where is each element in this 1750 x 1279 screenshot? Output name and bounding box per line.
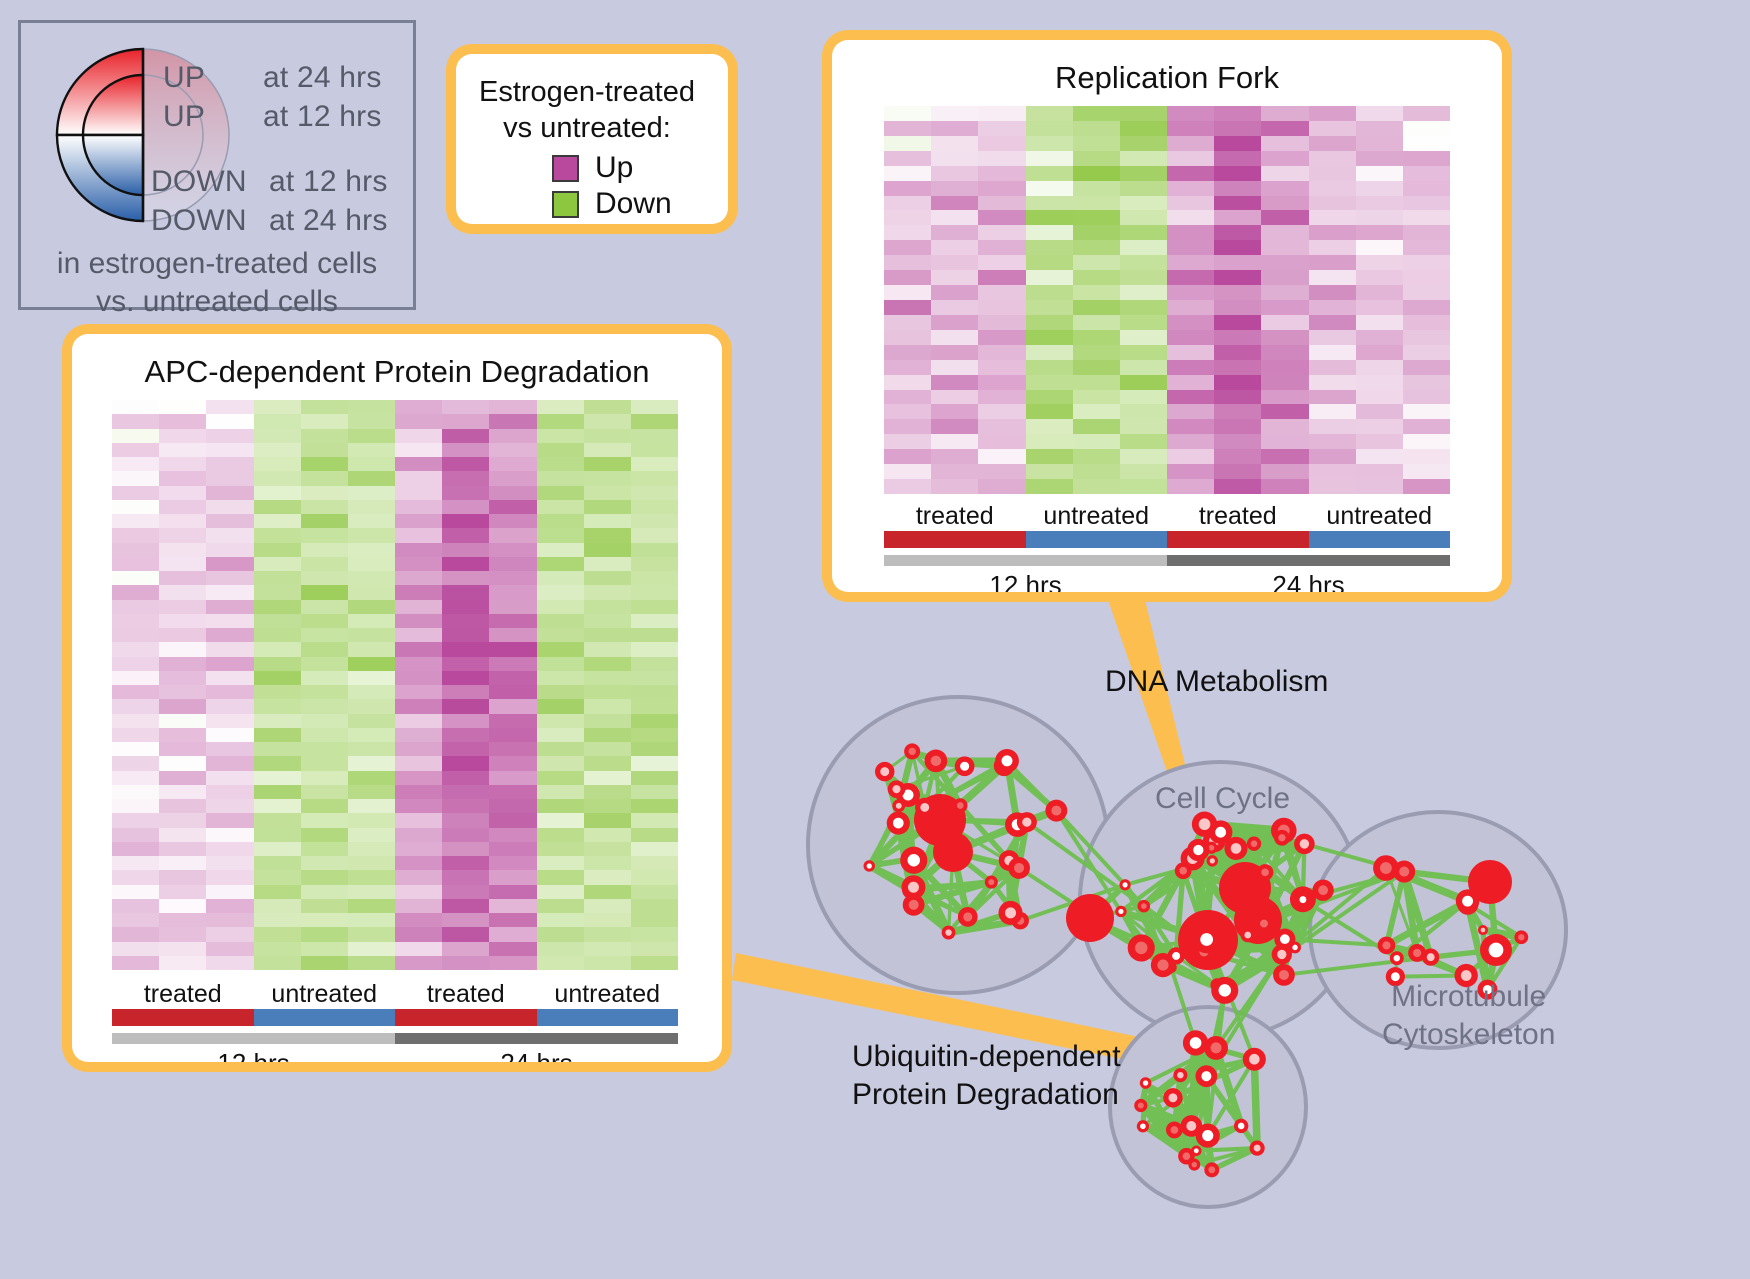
network-node[interactable] <box>892 799 905 812</box>
heatmap-cell <box>254 899 301 913</box>
network-node[interactable] <box>1045 800 1067 822</box>
heatmap-cell <box>442 728 489 742</box>
heatmap-cell <box>1261 210 1308 225</box>
heatmap-cell <box>1356 449 1403 464</box>
heatmap-cell <box>112 842 159 856</box>
heatmap-cell <box>348 699 395 713</box>
heatmap-cell <box>584 657 631 671</box>
network-node[interactable] <box>1234 1119 1248 1133</box>
heatmap-cell <box>931 449 978 464</box>
network-node[interactable] <box>1243 1048 1266 1071</box>
treatment-bar-rf <box>884 531 1450 548</box>
node-inner <box>1122 882 1127 887</box>
pathway-network <box>790 620 1590 1220</box>
heatmap-cell <box>206 400 253 414</box>
heatmap-cell <box>206 842 253 856</box>
heatmap-cell <box>931 225 978 240</box>
heatmap-cell <box>1167 225 1214 240</box>
node-inner <box>893 818 904 829</box>
node-inner <box>1183 1152 1191 1160</box>
heatmap-cell <box>301 457 348 471</box>
heatmap-cell <box>537 628 584 642</box>
network-node[interactable] <box>1134 1099 1147 1112</box>
heatmap-cell <box>1167 166 1214 181</box>
heatmap-replication-fork <box>884 106 1450 494</box>
network-node[interactable] <box>1294 834 1315 855</box>
node-inner <box>960 762 969 771</box>
network-node[interactable] <box>1175 862 1192 879</box>
network-node[interactable] <box>1066 894 1114 942</box>
node-inner <box>1135 942 1147 954</box>
network-node[interactable] <box>864 860 875 871</box>
heatmap-cell <box>395 885 442 899</box>
heatmap-cell <box>489 828 536 842</box>
node-inner <box>1143 1080 1148 1085</box>
heatmap-cell <box>348 771 395 785</box>
heatmap-cell <box>442 856 489 870</box>
heatmap-cell <box>1261 151 1308 166</box>
heatmap-cell <box>395 728 442 742</box>
heatmap-cell <box>1309 285 1356 300</box>
heatmap-cell <box>1309 375 1356 390</box>
heatmap-cell <box>159 414 206 428</box>
heatmap-cell <box>159 856 206 870</box>
heatmap-cell <box>1120 181 1167 196</box>
heatmap-cell <box>159 657 206 671</box>
heatmap-cell <box>206 414 253 428</box>
network-node[interactable] <box>1173 1068 1187 1082</box>
heatmap-cell <box>1214 121 1261 136</box>
heatmap-cell <box>348 813 395 827</box>
heatmap-cell <box>348 785 395 799</box>
heatmap-cell <box>584 471 631 485</box>
heatmap-cell <box>442 885 489 899</box>
heatmap-cell <box>1261 285 1308 300</box>
network-node[interactable] <box>955 756 975 776</box>
heatmap-cell <box>348 414 395 428</box>
heatmap-cell <box>537 885 584 899</box>
network-node[interactable] <box>1138 900 1151 913</box>
heatmap-cell <box>1120 434 1167 449</box>
heatmap-cell <box>1120 390 1167 405</box>
heatmap-cell <box>489 543 536 557</box>
heatmap-cell <box>301 429 348 443</box>
timepoint-label: 24 hrs <box>395 1048 678 1062</box>
heatmap-cell <box>206 628 253 642</box>
node-inner <box>1280 934 1290 944</box>
heatmap-cell <box>1167 240 1214 255</box>
network-node[interactable] <box>1295 892 1310 907</box>
network-node[interactable] <box>933 832 973 872</box>
heatmap-cell <box>489 429 536 443</box>
timepoint-label: 12 hrs <box>112 1048 395 1062</box>
heatmap-cell <box>254 400 301 414</box>
heatmap-cell <box>631 557 678 571</box>
key-time-down-24: at 24 hrs <box>269 204 388 238</box>
heatmap-cell <box>254 571 301 585</box>
heatmap-cell <box>348 927 395 941</box>
heatmap-cell <box>159 486 206 500</box>
network-node[interactable] <box>953 798 968 813</box>
network-node[interactable] <box>1247 836 1261 850</box>
heatmap-cell <box>442 585 489 599</box>
heatmap-cell <box>978 151 1025 166</box>
key-time-up-24: at 24 hrs <box>263 61 382 95</box>
heatmap-cell <box>395 913 442 927</box>
network-node[interactable] <box>915 798 934 817</box>
heatmap-cell <box>159 514 206 528</box>
heatmap-cell <box>537 856 584 870</box>
heatmap-cell <box>1261 345 1308 360</box>
heatmap-cell <box>112 714 159 728</box>
node-inner <box>1254 1145 1261 1152</box>
heatmap-cell <box>884 285 931 300</box>
network-node[interactable] <box>1187 839 1209 861</box>
heatmap-cell <box>1120 121 1167 136</box>
heatmap-cell <box>489 500 536 514</box>
heatmap-cell <box>1309 151 1356 166</box>
heatmap-cell <box>1167 345 1214 360</box>
heatmap-cell <box>1120 464 1167 479</box>
heatmap-cell <box>1403 434 1450 449</box>
network-node[interactable] <box>900 847 927 874</box>
heatmap-cell <box>884 240 931 255</box>
heatmap-cell <box>1309 255 1356 270</box>
network-node[interactable] <box>904 743 920 759</box>
heatmap-cell <box>112 486 159 500</box>
node-inner <box>1399 866 1409 876</box>
heatmap-cell <box>537 471 584 485</box>
heatmap-cell <box>631 799 678 813</box>
heatmap-cell <box>1120 404 1167 419</box>
heatmap-cell <box>1261 375 1308 390</box>
heatmap-cell <box>978 345 1025 360</box>
heatmap-cell <box>254 756 301 770</box>
heatmap-cell <box>1214 225 1261 240</box>
heatmap-cell <box>395 856 442 870</box>
network-node[interactable] <box>1378 937 1396 955</box>
heatmap-cell <box>1073 375 1120 390</box>
heatmap-cell <box>1073 106 1120 121</box>
heatmap-cell <box>1120 270 1167 285</box>
heatmap-cell <box>206 828 253 842</box>
network-node[interactable] <box>1188 1159 1200 1171</box>
heatmap-cell <box>584 842 631 856</box>
heatmap-cell <box>112 785 159 799</box>
heatmap-cell <box>978 255 1025 270</box>
heatmap-cell <box>1356 300 1403 315</box>
heatmap-cell <box>395 628 442 642</box>
heatmap-cell <box>884 255 931 270</box>
network-node[interactable] <box>1250 1141 1265 1156</box>
heatmap-cell <box>931 181 978 196</box>
heatmap-cell <box>631 756 678 770</box>
heatmap-cell <box>1214 330 1261 345</box>
network-node[interactable] <box>985 876 998 889</box>
heatmap-cell <box>1356 390 1403 405</box>
node-inner <box>1299 896 1306 903</box>
heatmap-cell <box>978 315 1025 330</box>
network-node[interactable] <box>1008 857 1030 879</box>
heatmap-cell <box>931 419 978 434</box>
network-node[interactable] <box>1255 915 1272 932</box>
network-node[interactable] <box>1196 1124 1220 1148</box>
heatmap-cell <box>1167 121 1214 136</box>
network-node[interactable] <box>995 749 1019 773</box>
heatmap-cell <box>395 756 442 770</box>
heatmap-cell <box>1214 345 1261 360</box>
legend-swatch-down <box>552 191 579 218</box>
timepoint-bar-segment <box>1167 555 1450 566</box>
heatmap-cell <box>1261 270 1308 285</box>
network-node[interactable] <box>1193 926 1221 954</box>
heatmap-cell <box>1026 285 1073 300</box>
heatmap-cell <box>1073 240 1120 255</box>
network-node[interactable] <box>1183 1030 1208 1055</box>
heatmap-cell <box>112 913 159 927</box>
heatmap-cell <box>978 285 1025 300</box>
heatmap-cell <box>442 699 489 713</box>
heatmap-cell <box>931 270 978 285</box>
heatmap-cell <box>1356 210 1403 225</box>
heatmap-cell <box>931 136 978 151</box>
heatmap-cell <box>537 486 584 500</box>
heatmap-cell <box>1214 390 1261 405</box>
network-node[interactable] <box>958 907 978 927</box>
heatmap-cell <box>159 714 206 728</box>
heatmap-cell <box>1214 196 1261 211</box>
network-node[interactable] <box>1119 879 1130 890</box>
heatmap-cell <box>395 486 442 500</box>
network-node[interactable] <box>925 749 948 772</box>
timepoint-bar-rf <box>884 555 1450 566</box>
heatmap-cell <box>206 614 253 628</box>
node-inner <box>1201 1071 1211 1081</box>
heatmap-cell <box>1356 270 1403 285</box>
heatmap-cell <box>301 742 348 756</box>
heatmap-cell <box>442 457 489 471</box>
heatmap-cell <box>884 106 931 121</box>
heatmap-cell <box>631 585 678 599</box>
heatmap-cell <box>1214 464 1261 479</box>
heatmap-cell <box>159 956 206 970</box>
heatmap-cell <box>584 642 631 656</box>
heatmap-cell <box>584 828 631 842</box>
heatmap-cell <box>584 771 631 785</box>
heatmap-cell <box>1167 196 1214 211</box>
heatmap-cell <box>254 870 301 884</box>
network-node[interactable] <box>1257 864 1274 881</box>
heatmap-cell <box>631 842 678 856</box>
network-node[interactable] <box>1312 880 1333 901</box>
heatmap-cell <box>395 657 442 671</box>
heatmap-cell <box>584 685 631 699</box>
heatmap-cell <box>206 942 253 956</box>
heatmap-cell <box>631 514 678 528</box>
heatmap-cell <box>301 956 348 970</box>
heatmap-cell <box>1309 106 1356 121</box>
network-node[interactable] <box>1115 906 1126 917</box>
heatmap-cell <box>537 728 584 742</box>
heatmap-cell <box>206 471 253 485</box>
node-inner <box>1202 1130 1213 1141</box>
network-node[interactable] <box>1017 812 1037 832</box>
heatmap-cell <box>112 514 159 528</box>
heatmap-cell <box>1026 225 1073 240</box>
legend-title-line2: vs untreated: <box>456 110 718 146</box>
node-inner <box>1140 1123 1146 1129</box>
heatmap-cell <box>395 414 442 428</box>
heatmap-cell <box>1214 240 1261 255</box>
heatmap-cell <box>584 557 631 571</box>
heatmap-cell <box>1261 255 1308 270</box>
network-node[interactable] <box>1273 964 1295 986</box>
timepoint-label: 12 hrs <box>884 570 1167 592</box>
heatmap-cell <box>301 671 348 685</box>
network-node[interactable] <box>1240 928 1255 943</box>
network-node[interactable] <box>888 780 906 798</box>
heatmap-cell <box>884 196 931 211</box>
heatmap-cell <box>301 443 348 457</box>
heatmap-cell <box>348 956 395 970</box>
heatmap-cell <box>1214 315 1261 330</box>
heatmap-cell <box>884 121 931 136</box>
heatmap-cell <box>584 870 631 884</box>
heatmap-cell <box>537 528 584 542</box>
heatmap-cell <box>931 345 978 360</box>
heatmap-cell <box>489 714 536 728</box>
heatmap-cell <box>254 685 301 699</box>
heatmap-cell <box>1073 345 1120 360</box>
heatmap-cell <box>1214 360 1261 375</box>
network-node[interactable] <box>1137 1120 1149 1132</box>
heatmap-cell <box>348 942 395 956</box>
heatmap-cell <box>1356 106 1403 121</box>
heatmap-cell <box>978 121 1025 136</box>
network-node[interactable] <box>1390 951 1404 965</box>
heatmap-cell <box>159 471 206 485</box>
heatmap-cell <box>301 899 348 913</box>
network-node[interactable] <box>1456 889 1480 913</box>
heatmap-cell <box>884 390 931 405</box>
heatmap-cell <box>301 600 348 614</box>
node-inner <box>1022 817 1031 826</box>
heatmap-cell <box>584 756 631 770</box>
heatmap-cell <box>584 571 631 585</box>
heatmap-cell <box>489 614 536 628</box>
heatmap-cell <box>301 885 348 899</box>
heatmap-cell <box>1073 121 1120 136</box>
network-node[interactable] <box>1128 934 1155 961</box>
heatmap-cell <box>884 225 931 240</box>
node-inner <box>1382 941 1390 949</box>
heatmap-cell <box>301 927 348 941</box>
network-node[interactable] <box>1224 837 1247 860</box>
heatmap-cell <box>1356 479 1403 494</box>
heatmap-cell <box>489 699 536 713</box>
heatmap-cell <box>537 913 584 927</box>
heatmap-cell <box>301 828 348 842</box>
heatmap-cell <box>537 585 584 599</box>
heatmap-cell <box>254 956 301 970</box>
heatmap-cell <box>489 771 536 785</box>
network-node[interactable] <box>1480 934 1512 966</box>
network-node[interactable] <box>1274 830 1290 846</box>
legend-label-down: Down <box>595 189 672 219</box>
node-inner <box>908 748 915 755</box>
heatmap-cell <box>395 813 442 827</box>
heatmap-cell <box>1261 419 1308 434</box>
network-node[interactable] <box>942 926 956 940</box>
heatmap-cell <box>1214 449 1261 464</box>
heatmap-cell <box>1073 315 1120 330</box>
network-node[interactable] <box>1151 953 1175 977</box>
heatmap-cell <box>631 927 678 941</box>
network-node[interactable] <box>875 762 894 781</box>
heatmap-cell <box>1073 464 1120 479</box>
network-node[interactable] <box>1408 944 1426 962</box>
heatmap-cell <box>489 742 536 756</box>
heatmap-cell <box>537 557 584 571</box>
heatmap-cell <box>112 528 159 542</box>
network-node[interactable] <box>1140 1077 1152 1089</box>
heatmap-cell <box>584 942 631 956</box>
heatmap-cell <box>254 714 301 728</box>
heatmap-cell <box>1356 240 1403 255</box>
heatmap-cell <box>1261 240 1308 255</box>
network-node[interactable] <box>887 811 910 834</box>
network-node[interactable] <box>1373 855 1399 881</box>
heatmap-cell <box>112 414 159 428</box>
heatmap-cell <box>1356 315 1403 330</box>
heatmap-cell <box>206 956 253 970</box>
treatment-bar-segment <box>112 1009 254 1026</box>
heatmap-cell <box>1026 464 1073 479</box>
heatmap-cell <box>301 585 348 599</box>
network-node[interactable] <box>999 901 1023 925</box>
network-node[interactable] <box>1163 1088 1182 1107</box>
network-node[interactable] <box>1514 930 1528 944</box>
heatmap-cell <box>1261 434 1308 449</box>
heatmap-cell <box>631 657 678 671</box>
heatmap-cell <box>537 443 584 457</box>
network-node[interactable] <box>1204 1162 1219 1177</box>
heatmap-cell <box>159 870 206 884</box>
heatmap-cell <box>348 756 395 770</box>
heatmap-cell <box>1026 255 1073 270</box>
network-node[interactable] <box>1195 1065 1217 1087</box>
network-node[interactable] <box>1274 929 1295 950</box>
heatmap-cell <box>112 699 159 713</box>
heatmap-cell <box>112 942 159 956</box>
heatmap-cell <box>584 913 631 927</box>
heatmap-cell <box>1167 270 1214 285</box>
heatmap-cell <box>206 913 253 927</box>
treatment-bar-segment <box>1167 531 1309 548</box>
network-node[interactable] <box>1166 1122 1183 1139</box>
network-node[interactable] <box>1207 855 1218 866</box>
heatmap-cell <box>112 671 159 685</box>
heatmap-cell <box>584 400 631 414</box>
network-node[interactable] <box>901 875 925 899</box>
heatmap-cell <box>978 225 1025 240</box>
network-node[interactable] <box>1211 977 1238 1004</box>
heatmap-cell <box>159 500 206 514</box>
heatmap-cell <box>489 899 536 913</box>
figure-canvas: UP at 24 hrs UP at 12 hrs DOWN at 12 hrs… <box>0 0 1750 1279</box>
node-inner <box>1177 1072 1183 1078</box>
network-node[interactable] <box>1478 925 1488 935</box>
